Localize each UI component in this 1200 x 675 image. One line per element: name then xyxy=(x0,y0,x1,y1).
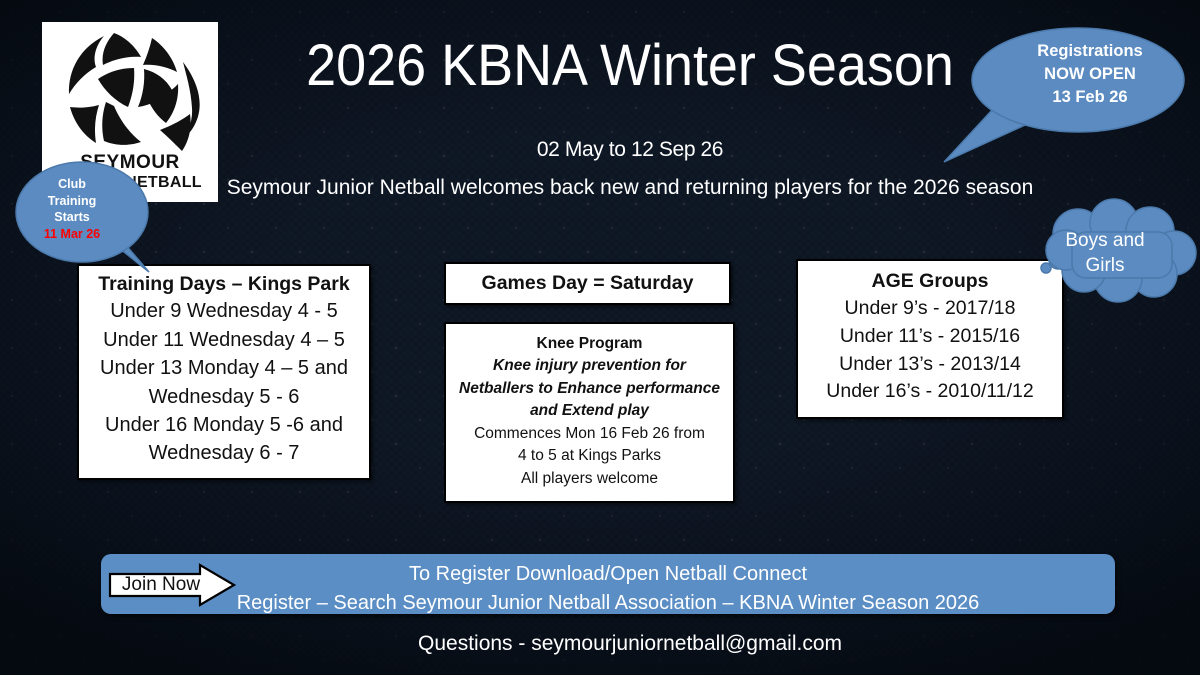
knee-line: 4 to 5 at Kings Parks xyxy=(452,445,727,467)
reg-bubble-line-2: NOW OPEN xyxy=(1000,63,1180,86)
knee-italic-line: and Extend play xyxy=(452,400,727,422)
registrations-bubble-text: Registrations NOW OPEN 13 Feb 26 xyxy=(1000,40,1180,108)
club-bubble-line-1: Club xyxy=(26,176,118,193)
knee-line: Commences Mon 16 Feb 26 from xyxy=(452,423,727,445)
netball-ball-icon xyxy=(42,22,218,157)
club-bubble-date: 11 Mar 26 xyxy=(26,226,118,243)
knee-line: All players welcome xyxy=(452,468,727,490)
club-bubble-line-3: Starts xyxy=(26,209,118,226)
knee-program-heading: Knee Program xyxy=(452,333,727,355)
cloud-line-1: Boys and xyxy=(1040,228,1170,253)
age-groups-heading: AGE Groups xyxy=(802,268,1058,295)
games-day-box: Games Day = Saturday xyxy=(444,262,731,305)
training-line: Under 16 Monday 5 -6 and xyxy=(83,411,365,439)
knee-program-box: Knee Program Knee injury prevention for … xyxy=(444,322,735,503)
boys-and-girls-text: Boys and Girls xyxy=(1040,228,1170,278)
page-title: 2026 KBNA Winter Season xyxy=(277,36,984,95)
training-line: Under 13 Monday 4 – 5 and xyxy=(83,354,365,382)
age-group-line: Under 9’s - 2017/18 xyxy=(802,295,1058,323)
questions-contact: Questions - seymourjuniornetball@gmail.c… xyxy=(200,632,1060,656)
training-line: Under 11 Wednesday 4 – 5 xyxy=(83,326,365,354)
club-training-bubble-text: Club Training Starts 11 Mar 26 xyxy=(26,176,118,242)
banner-line-2: Register – Search Seymour Junior Netball… xyxy=(101,589,1115,618)
training-line: Under 9 Wednesday 4 - 5 xyxy=(83,297,365,325)
knee-italic-line: Netballers to Enhance performance xyxy=(452,378,727,400)
age-group-line: Under 11’s - 2015/16 xyxy=(802,323,1058,351)
banner-line-1: To Register Download/Open Netball Connec… xyxy=(101,560,1115,589)
games-day-heading: Games Day = Saturday xyxy=(450,272,725,295)
cloud-line-2: Girls xyxy=(1040,253,1170,278)
reg-bubble-line-1: Registrations xyxy=(1000,40,1180,63)
age-group-line: Under 16’s - 2010/11/12 xyxy=(802,378,1058,406)
training-days-box: Training Days – Kings Park Under 9 Wedne… xyxy=(77,264,371,480)
training-line: Wednesday 6 - 7 xyxy=(83,439,365,467)
registration-banner-text: To Register Download/Open Netball Connec… xyxy=(101,560,1115,618)
age-groups-box: AGE Groups Under 9’s - 2017/18 Under 11’… xyxy=(796,259,1064,419)
join-now-label[interactable]: Join Now xyxy=(116,574,206,596)
training-line: Wednesday 5 - 6 xyxy=(83,383,365,411)
reg-bubble-line-3: 13 Feb 26 xyxy=(1000,86,1180,109)
poster-canvas: SEYMOUR JUNIOR NETBALL 2026 KBNA Winter … xyxy=(0,0,1200,675)
age-group-line: Under 13’s - 2013/14 xyxy=(802,351,1058,379)
season-dates: 02 May to 12 Sep 26 xyxy=(250,138,1010,162)
knee-italic-line: Knee injury prevention for xyxy=(452,355,727,377)
welcome-message: Seymour Junior Netball welcomes back new… xyxy=(200,176,1060,200)
club-bubble-line-2: Training xyxy=(26,193,118,210)
